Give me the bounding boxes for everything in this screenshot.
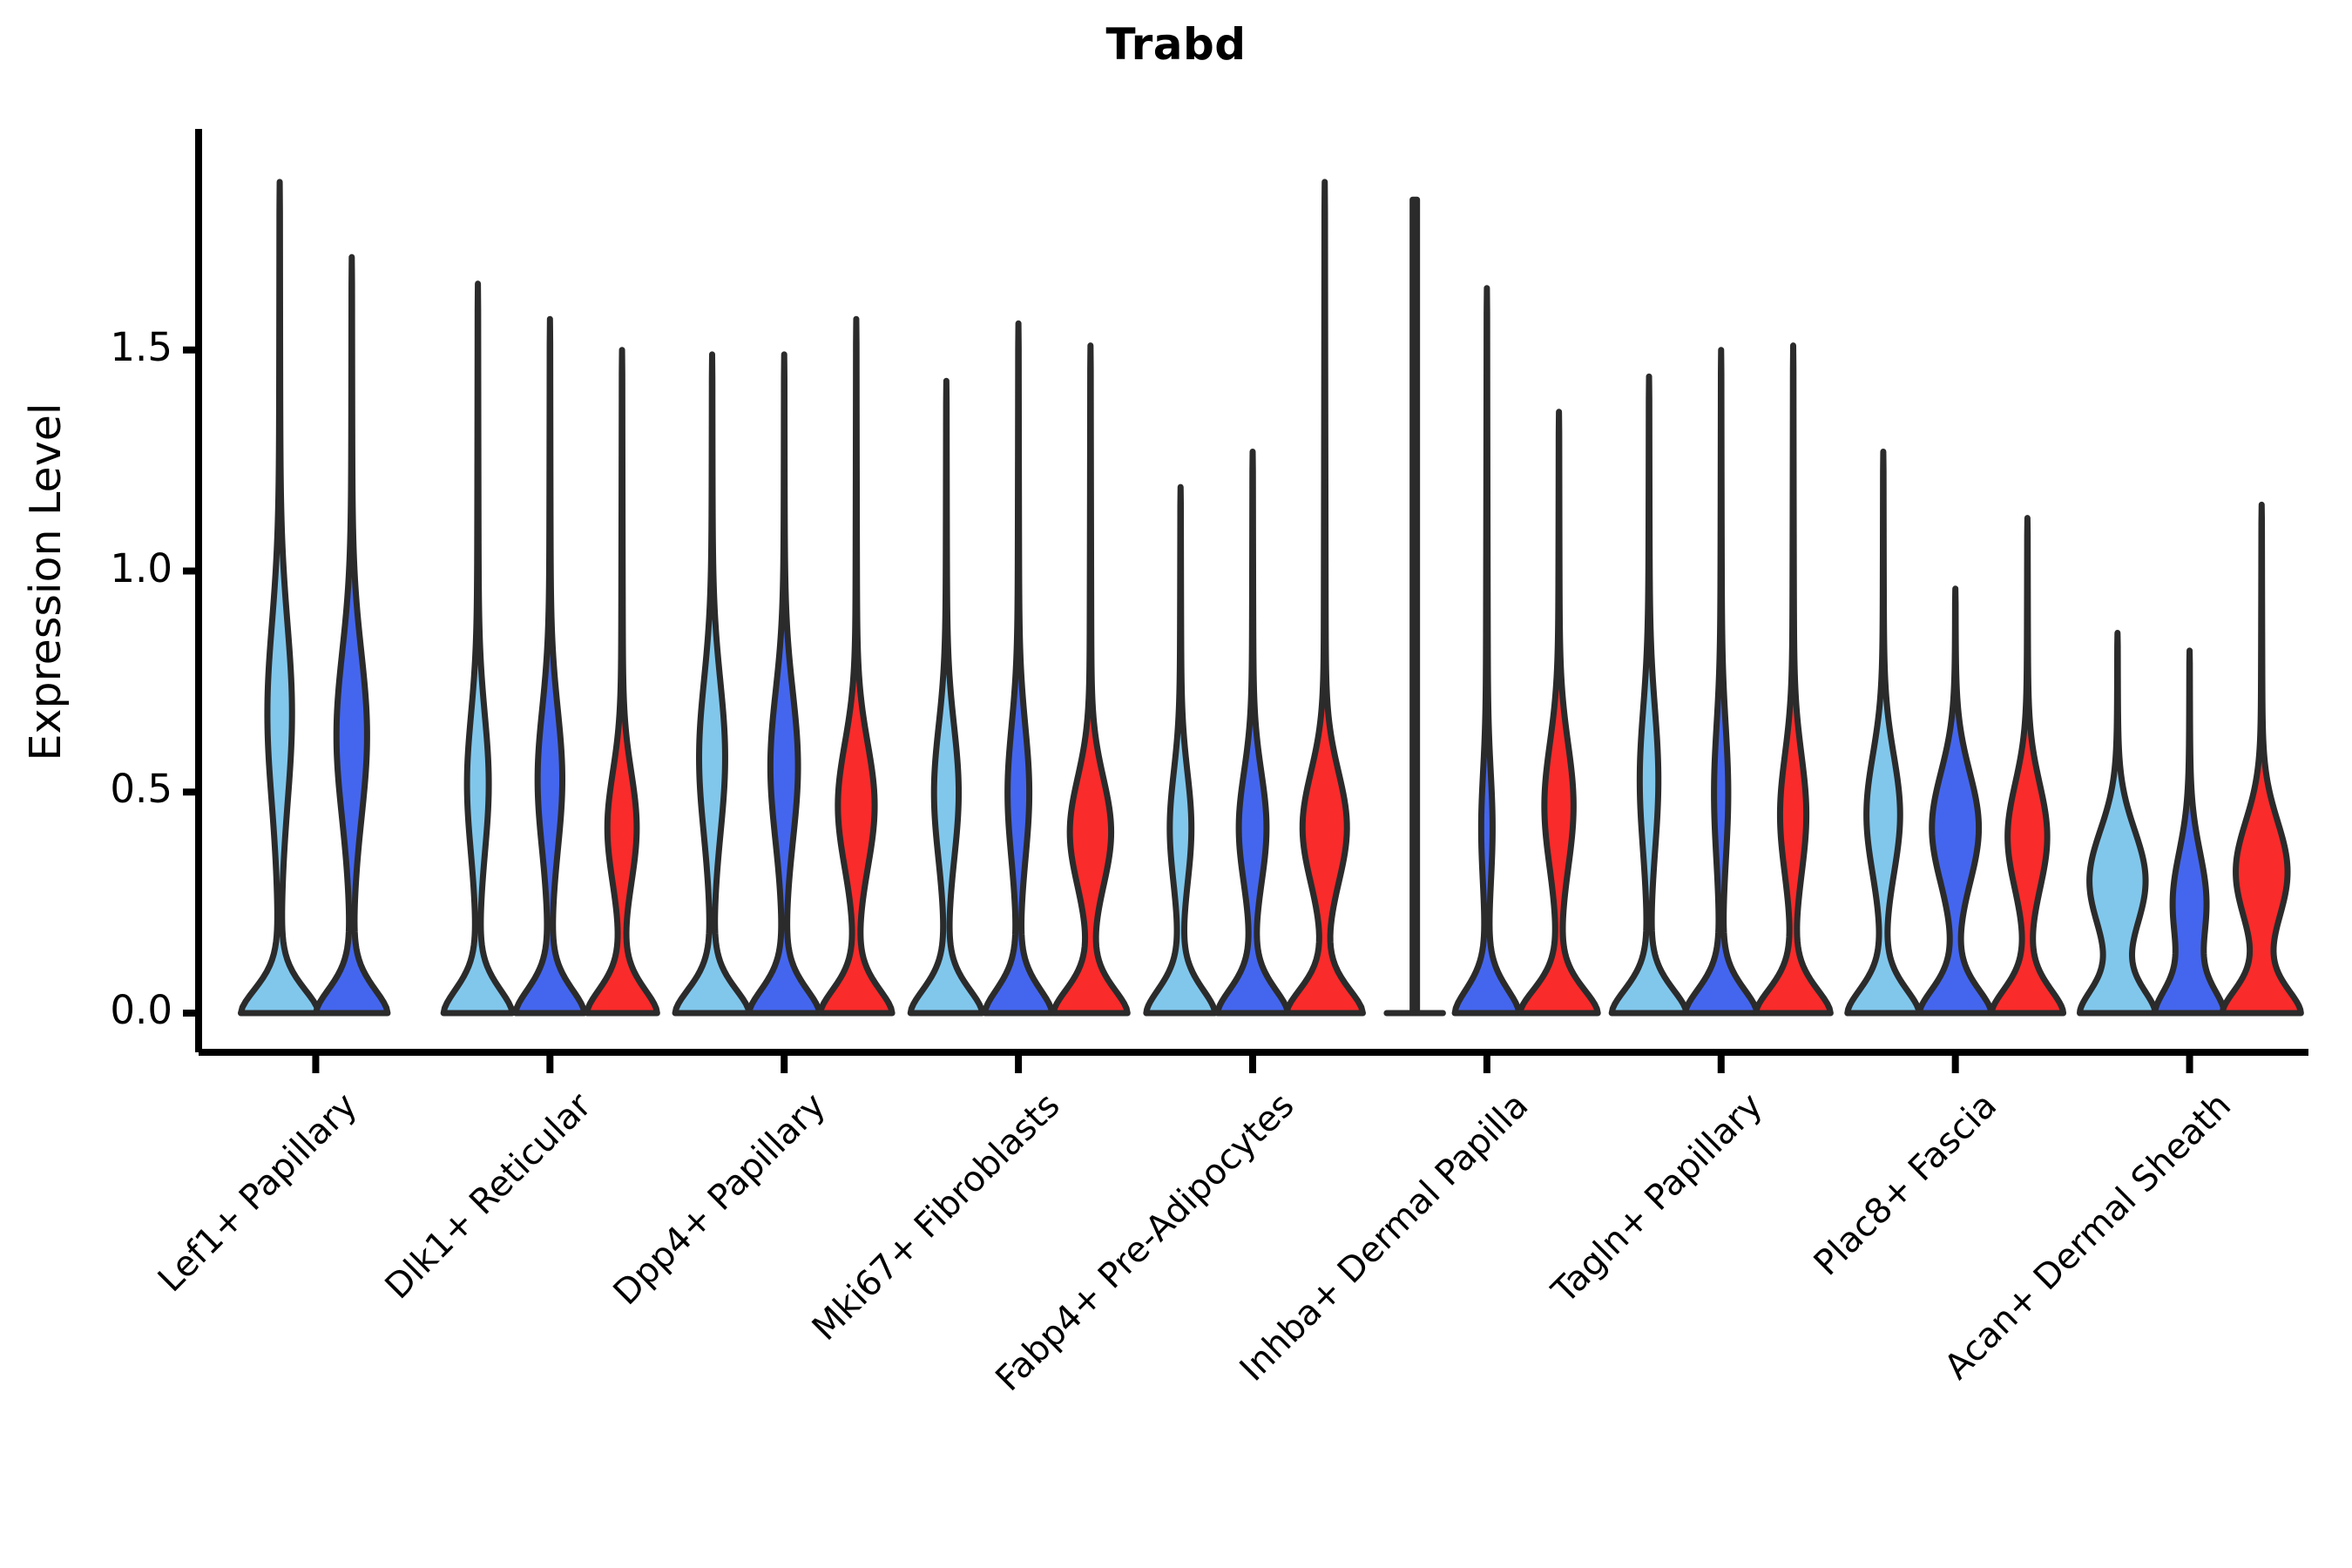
y-tick-label: 1.0 [24, 545, 172, 591]
violin-group-3 [1053, 346, 1127, 1013]
violin-group-1 [241, 182, 319, 1013]
violin-category-group [675, 319, 892, 1013]
violin-group-1 [910, 381, 982, 1013]
violin-group-3 [1756, 346, 1831, 1013]
violin-group-2 [2155, 651, 2224, 1013]
violin-group-1 [2080, 633, 2156, 1013]
violin-group-2 [1218, 451, 1288, 1013]
violin-category-group [1612, 346, 1830, 1013]
violin-group-3 [821, 319, 892, 1013]
y-tick-label: 0.0 [24, 987, 172, 1033]
violin-category-group [910, 323, 1127, 1013]
violin-group-1 [1146, 487, 1215, 1013]
violin-group-3 [587, 350, 658, 1013]
violin-category-group [443, 284, 657, 1013]
violin-group-2 [749, 355, 820, 1013]
violin-group-2 [516, 319, 585, 1013]
violin-category-group [1848, 451, 2064, 1013]
violin-group-3 [1287, 182, 1363, 1013]
violin-group-1 [1387, 199, 1443, 1013]
violin-group-layer [241, 182, 2301, 1013]
violin-category-group [1146, 182, 1363, 1013]
y-tick-label: 1.5 [24, 324, 172, 370]
violin-group-1 [443, 284, 512, 1013]
violin-category-group [241, 182, 388, 1013]
y-tick-label: 0.5 [24, 766, 172, 812]
violin-group-2 [985, 323, 1052, 1013]
violin-group-2 [1686, 350, 1757, 1013]
violin-plot-figure: Trabd Expression Level 0.00.51.01.5 Lef1… [0, 0, 2352, 1568]
violin-group-3 [1520, 412, 1598, 1013]
violin-group-2 [1455, 288, 1519, 1013]
violin-group-3 [1991, 518, 2063, 1013]
violin-category-group [2080, 504, 2301, 1013]
violin-group-1 [1612, 376, 1686, 1013]
violin-group-1 [675, 355, 749, 1013]
violin-group-2 [316, 257, 388, 1013]
violin-group-3 [2222, 504, 2301, 1013]
violin-group-2 [1919, 589, 1990, 1013]
violin-group-1 [1848, 451, 1919, 1013]
violin-category-group [1387, 199, 1598, 1013]
